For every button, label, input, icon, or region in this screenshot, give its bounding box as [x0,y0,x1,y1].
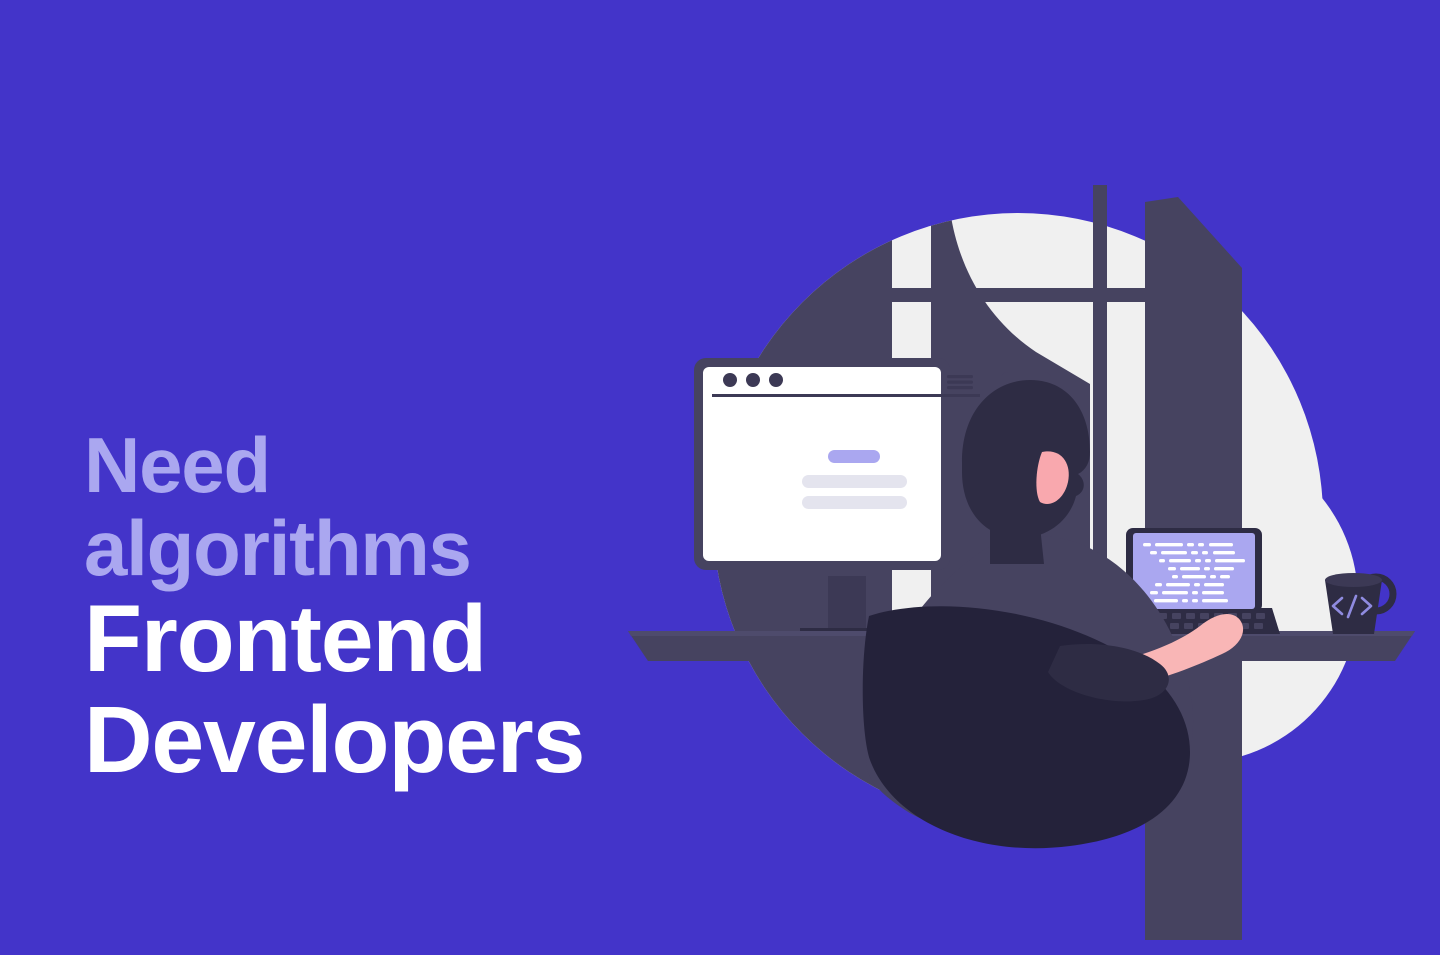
browser-dot-red [723,373,737,387]
browser-chrome-divider [712,394,980,397]
promo-banner: Need algorithms Frontend Developers [0,0,1440,955]
headline-eyebrow-line-2: algorithms [84,507,724,590]
browser-dot-green [769,373,783,387]
headline-main-line-1: Frontend [84,589,724,690]
window-mullion-vertical-overlay [1093,185,1107,295]
hamburger-menu-icon [947,375,973,389]
monitor-stand-neck [828,576,866,636]
headline-main-line-2: Developers [84,690,724,791]
mug-rim [1325,573,1382,587]
person-neck [990,526,1044,564]
headline-block: Need algorithms Frontend Developers [84,424,724,791]
content-gray-bar-2 [802,496,907,509]
browser-dot-yellow [746,373,760,387]
content-gray-bar-1 [802,475,907,488]
laptop-screen [1133,533,1255,609]
content-accent-bar [828,450,880,463]
headline-eyebrow-line-1: Need [84,424,724,507]
